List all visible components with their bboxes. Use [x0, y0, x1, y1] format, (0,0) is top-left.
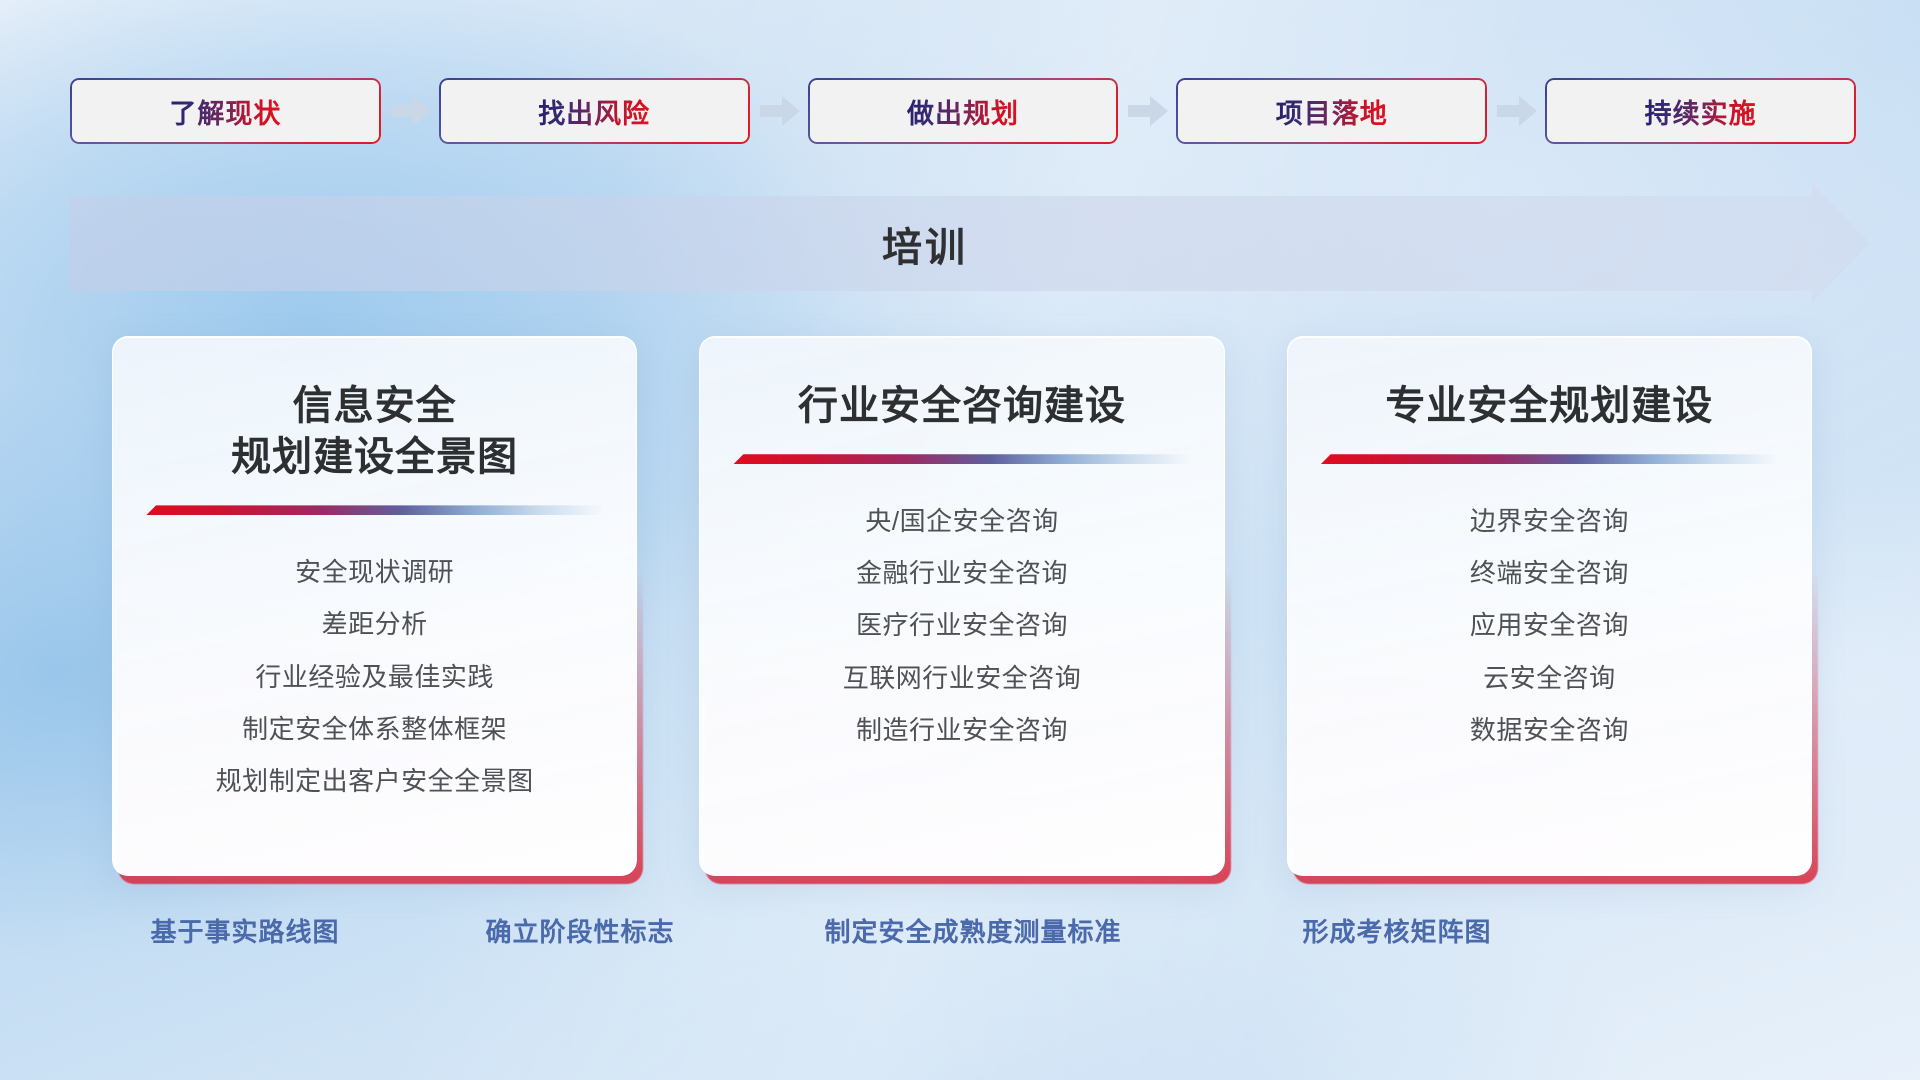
process-step-label: 做出规划: [907, 92, 1019, 131]
card-list-item: 央/国企安全咨询: [865, 500, 1058, 542]
capability-card-2[interactable]: 行业安全咨询建设 央/国企安全咨询 金融行业安全咨询 医疗行业安全咨询 互联网行…: [699, 336, 1224, 876]
card-list-item: 互联网行业安全咨询: [843, 657, 1082, 699]
process-step-1[interactable]: 了解现状: [70, 78, 381, 144]
process-step-label: 找出风险: [538, 92, 650, 131]
card-list-item: 制造行业安全咨询: [856, 709, 1068, 751]
card-item-list: 安全现状调研 差距分析 行业经验及最佳实践 制定安全体系整体框架 规划制定出客户…: [113, 551, 636, 802]
card-divider: [733, 454, 1190, 464]
card-list-item: 边界安全咨询: [1470, 500, 1629, 542]
footnote-row: 基于事实路线图 确立阶段性标志 制定安全成熟度测量标准 形成考核矩阵图: [70, 912, 1860, 958]
card-item-list: 央/国企安全咨询 金融行业安全咨询 医疗行业安全咨询 互联网行业安全咨询 制造行…: [700, 500, 1223, 751]
process-arrow-2: [750, 78, 808, 144]
card-list-item: 医疗行业安全咨询: [856, 604, 1068, 646]
card-list-item: 制定安全体系整体框架: [242, 708, 507, 750]
process-step-label: 了解现状: [169, 92, 281, 131]
card-item-list: 边界安全咨询 终端安全咨询 应用安全咨询 云安全咨询 数据安全咨询: [1288, 500, 1811, 751]
capability-card-3[interactable]: 专业安全规划建设 边界安全咨询 终端安全咨询 应用安全咨询 云安全咨询 数据安全…: [1287, 336, 1812, 876]
card-list-item: 金融行业安全咨询: [856, 552, 1068, 594]
process-step-3[interactable]: 做出规划: [808, 78, 1119, 144]
card-list-item: 数据安全咨询: [1470, 709, 1629, 751]
card-list-item: 安全现状调研: [295, 551, 454, 593]
process-step-2[interactable]: 找出风险: [439, 78, 750, 144]
footnote-2: 确立阶段性标志: [485, 912, 674, 949]
process-arrow-4: [1487, 78, 1545, 144]
card-list-item: 差距分析: [322, 603, 428, 645]
footnote-3: 制定安全成熟度测量标准: [824, 912, 1121, 949]
card-list-item: 云安全咨询: [1483, 657, 1616, 699]
process-arrow-3: [1118, 78, 1176, 144]
footnote-4: 形成考核矩阵图: [1302, 912, 1491, 949]
slide-stage: 了解现状 找出风险 做出规划 项目落地: [0, 0, 1920, 1080]
card-title: 行业安全咨询建设: [700, 381, 1223, 432]
process-step-label: 持续实施: [1645, 92, 1757, 131]
card-title: 专业安全规划建设: [1288, 381, 1811, 432]
training-banner: 培训: [70, 196, 1870, 291]
capability-card-1[interactable]: 信息安全 规划建设全景图 安全现状调研 差距分析 行业经验及最佳实践 制定安全体…: [112, 336, 637, 876]
card-list-item: 行业经验及最佳实践: [255, 656, 494, 698]
card-body: 信息安全 规划建设全景图 安全现状调研 差距分析 行业经验及最佳实践 制定安全体…: [112, 336, 637, 876]
process-step-label: 项目落地: [1276, 92, 1388, 131]
process-step-4[interactable]: 项目落地: [1176, 78, 1487, 144]
card-list-item: 规划制定出客户安全全景图: [216, 760, 534, 802]
footnote-1: 基于事实路线图: [150, 912, 339, 949]
card-list-item: 终端安全咨询: [1470, 552, 1629, 594]
process-step-5[interactable]: 持续实施: [1545, 78, 1856, 144]
card-list-item: 应用安全咨询: [1470, 604, 1629, 646]
process-arrow-1: [381, 78, 439, 144]
card-body: 行业安全咨询建设 央/国企安全咨询 金融行业安全咨询 医疗行业安全咨询 互联网行…: [699, 336, 1224, 876]
training-banner-title: 培训: [70, 196, 1870, 291]
card-divider: [146, 505, 603, 515]
process-step-row: 了解现状 找出风险 做出规划 项目落地: [70, 78, 1856, 144]
card-title: 信息安全 规划建设全景图: [113, 381, 636, 483]
card-body: 专业安全规划建设 边界安全咨询 终端安全咨询 应用安全咨询 云安全咨询 数据安全…: [1287, 336, 1812, 876]
capability-card-row: 信息安全 规划建设全景图 安全现状调研 差距分析 行业经验及最佳实践 制定安全体…: [112, 336, 1812, 876]
card-divider: [1321, 454, 1778, 464]
